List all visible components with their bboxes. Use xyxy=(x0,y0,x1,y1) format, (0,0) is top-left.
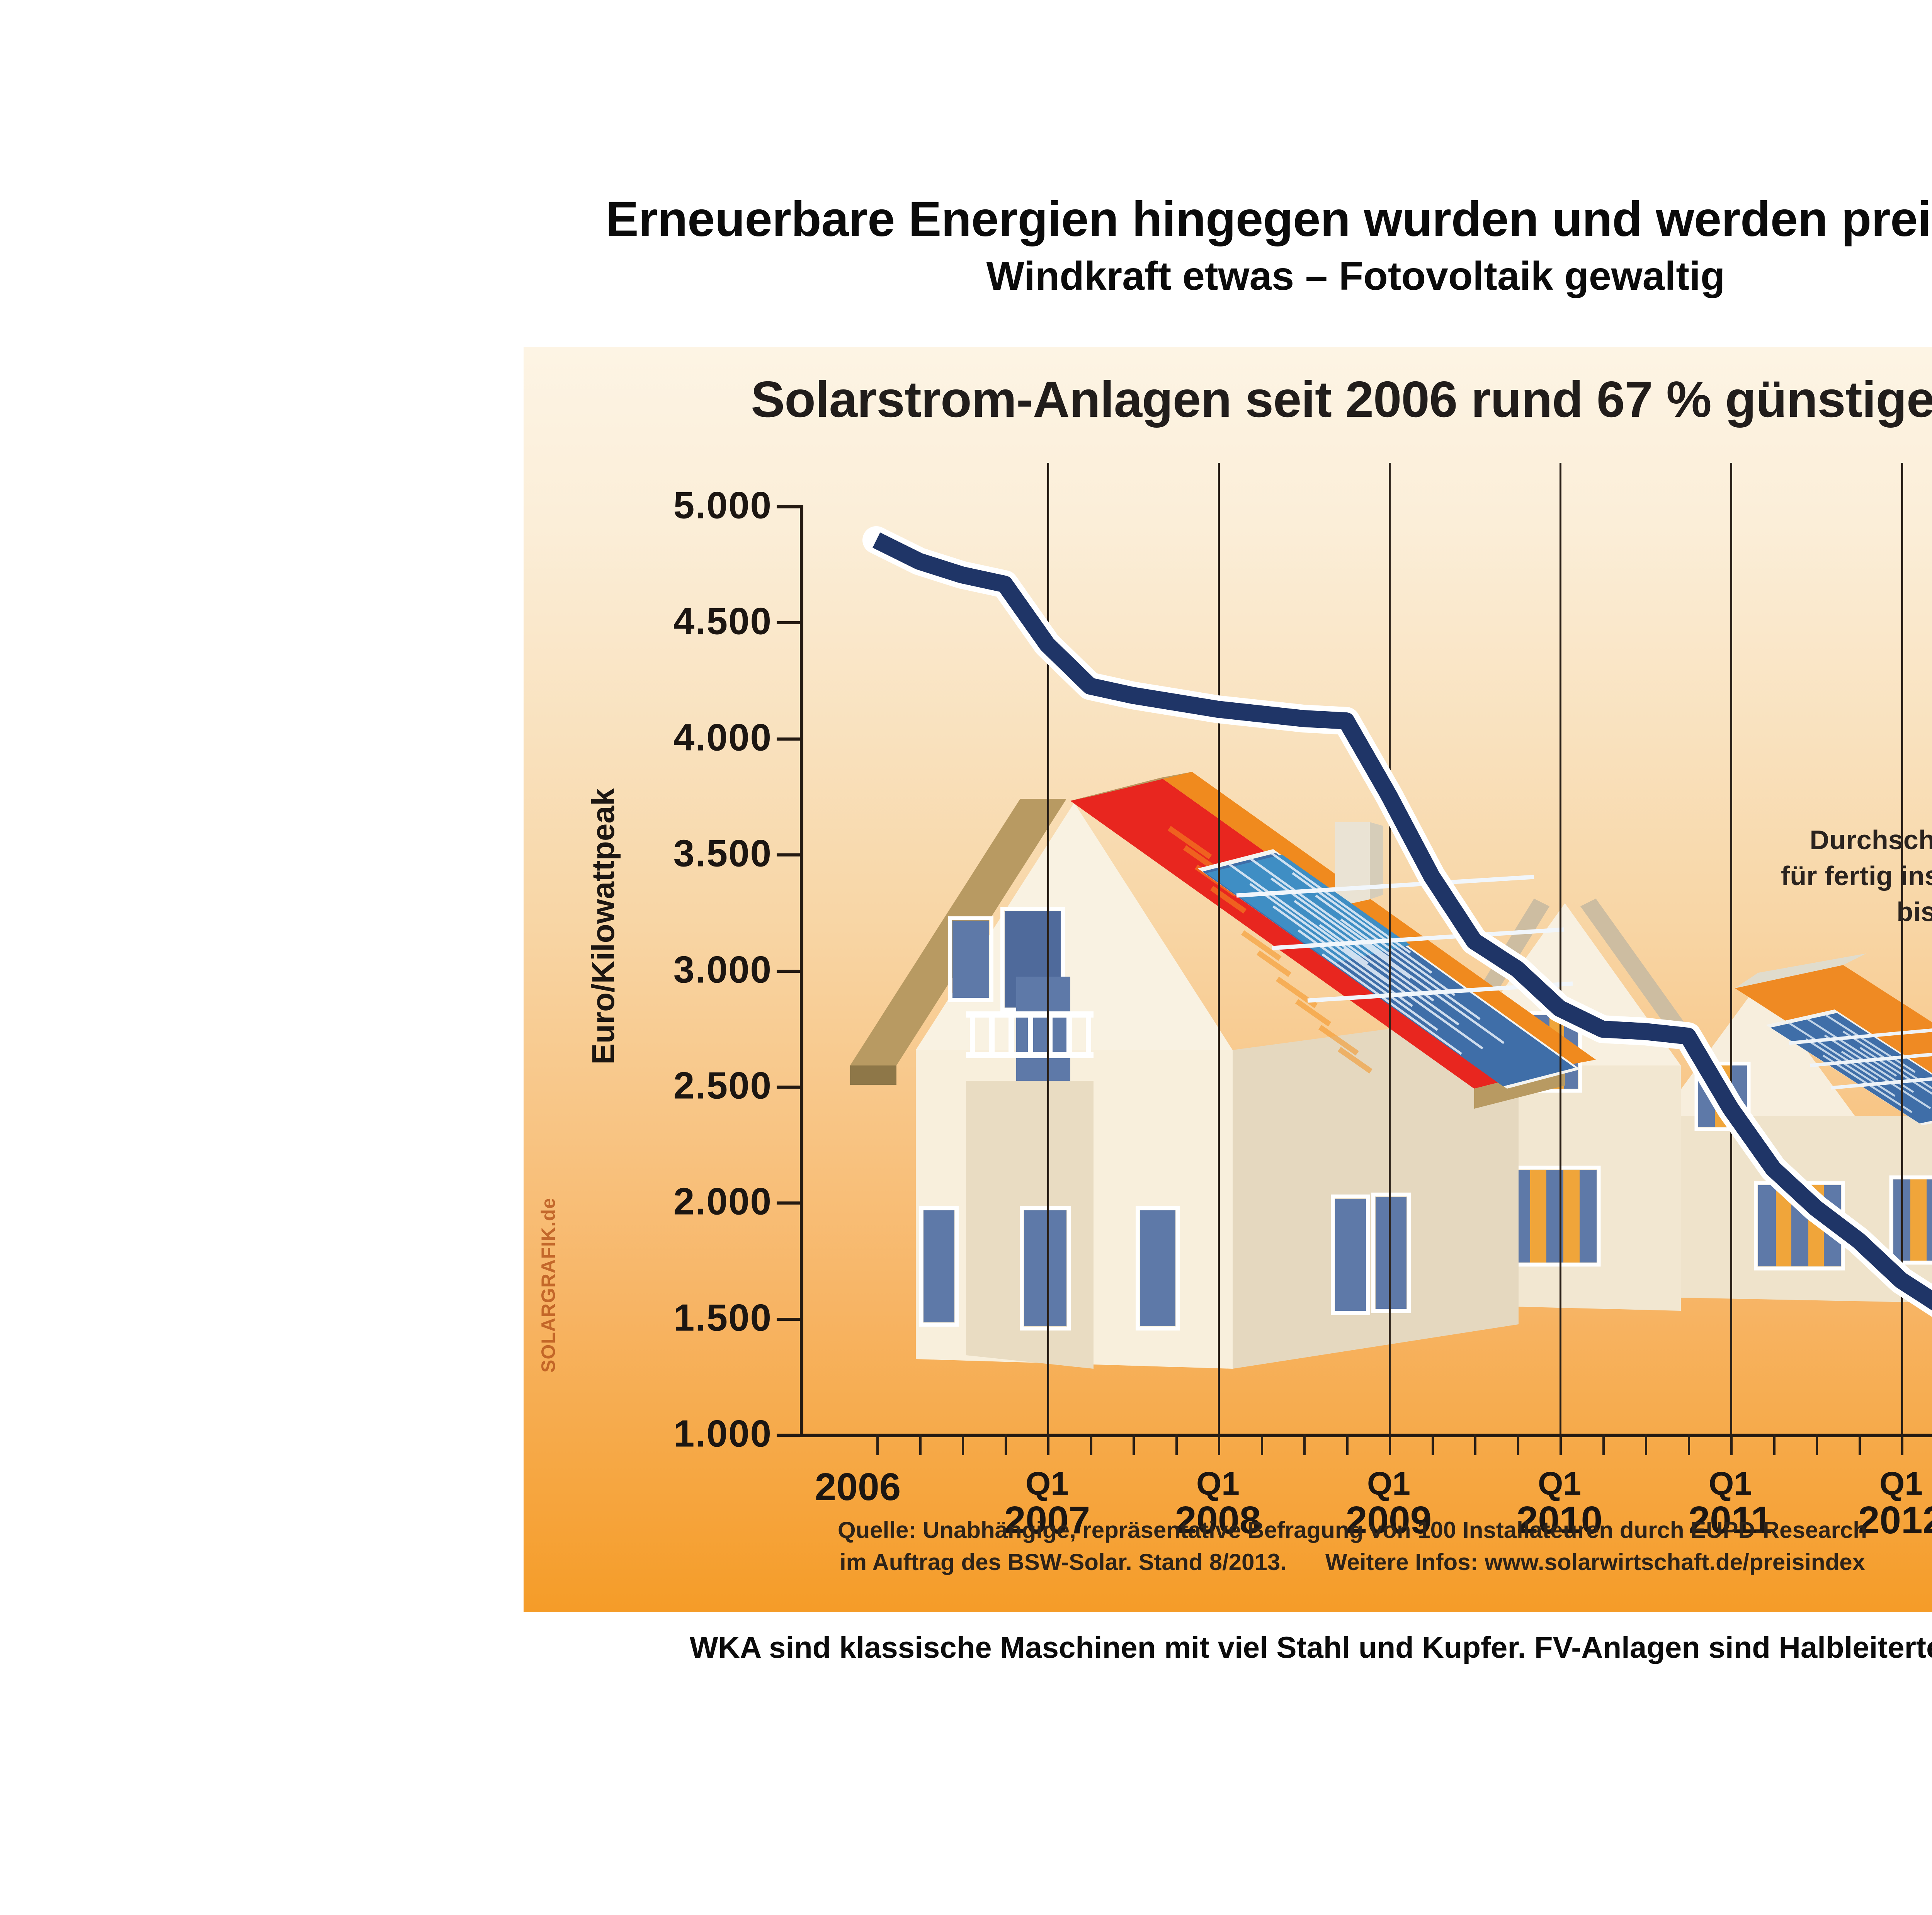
annotation-line-3: bis 10 kWp (ohne USt) xyxy=(1739,894,1932,930)
x-label-quarter: Q1 xyxy=(1517,1467,1602,1500)
y-tick-label: 3.500 xyxy=(673,832,772,875)
chart-heading: Solarstrom-Anlagen seit 2006 rund 67 % g… xyxy=(524,370,1932,428)
y-tick xyxy=(777,1318,800,1321)
source-url-path[interactable]: /preisindex xyxy=(1743,1549,1865,1575)
source-infos-label: Weitere Infos: xyxy=(1325,1549,1478,1575)
x-tick xyxy=(1005,1434,1007,1455)
y-tick xyxy=(777,1201,800,1205)
x-label-quarter: Q1 xyxy=(1858,1467,1932,1500)
y-tick-label: 2.500 xyxy=(673,1064,772,1108)
source-stand: im Auftrag des BSW-Solar. Stand 8/2013. xyxy=(840,1549,1287,1575)
y-tick xyxy=(777,970,800,973)
x-tick xyxy=(1517,1434,1519,1455)
y-tick xyxy=(777,1086,800,1089)
x-label-quarter: Q1 xyxy=(1689,1467,1772,1500)
plot-area: Euro/Kilowattpeak 5.000 4.500 4.000 3.50… xyxy=(800,463,1932,1433)
y-tick-label: 5.000 xyxy=(673,484,772,527)
x-tick xyxy=(1560,1434,1562,1455)
x-label-quarter: Q1 xyxy=(1346,1467,1432,1500)
chart-source-note: Quelle: Unabhängige, repräsentative Befr… xyxy=(524,1514,1932,1579)
x-tick xyxy=(919,1434,922,1455)
y-tick-label: 4.500 xyxy=(673,600,772,643)
x-tick xyxy=(1175,1434,1178,1455)
x-tick xyxy=(1432,1434,1434,1455)
slide-caption: WKA sind klassische Maschinen mit viel S… xyxy=(0,1631,1932,1664)
x-label-quarter: Q1 xyxy=(1175,1467,1261,1500)
source-line-2: im Auftrag des BSW-Solar. Stand 8/2013. … xyxy=(524,1546,1932,1579)
x-tick xyxy=(1303,1434,1306,1455)
y-tick-label: 3.000 xyxy=(673,948,772,992)
source-line-1: Quelle: Unabhängige, repräsentative Befr… xyxy=(524,1514,1932,1546)
x-tick xyxy=(1730,1434,1733,1455)
y-tick-label: 2.000 xyxy=(673,1180,772,1223)
x-label-quarter: Q1 xyxy=(1004,1467,1090,1500)
x-tick xyxy=(962,1434,964,1455)
y-tick xyxy=(777,505,800,508)
watermark-solargrafik: SOLARGRAFIK.de xyxy=(537,1198,560,1373)
source-url-domain[interactable]: www.solarwirtschaft.de xyxy=(1485,1549,1743,1575)
annotation-line-2: für fertig installierte PV-Aufdachanlage… xyxy=(1739,858,1932,894)
chart-panel: Solarstrom-Anlagen seit 2006 rund 67 % g… xyxy=(524,347,1932,1612)
annotation-line-1: Durchschnittlicher Endkundenpreis xyxy=(1739,822,1932,858)
x-tick xyxy=(1133,1434,1135,1455)
x-tick xyxy=(1859,1434,1861,1455)
y-tick-label: 1.000 xyxy=(673,1412,772,1456)
x-tick xyxy=(1090,1434,1092,1455)
x-tick xyxy=(1346,1434,1349,1455)
y-tick xyxy=(777,1434,800,1437)
x-tick xyxy=(1816,1434,1818,1455)
y-tick-label: 1.500 xyxy=(673,1296,772,1340)
x-tick xyxy=(1047,1434,1049,1455)
x-label-year: 2006 xyxy=(815,1467,901,1507)
x-tick xyxy=(1602,1434,1605,1455)
x-tick xyxy=(1389,1434,1391,1455)
x-label-2006: 2006 xyxy=(815,1467,901,1507)
x-tick xyxy=(1773,1434,1776,1455)
x-tick xyxy=(1645,1434,1647,1455)
x-tick xyxy=(1688,1434,1690,1455)
y-tick xyxy=(777,621,800,624)
y-axis-title: Euro/Kilowattpeak xyxy=(585,788,622,1064)
y-tick xyxy=(777,737,800,741)
x-tick xyxy=(1901,1434,1903,1455)
slide-subtitle: Windkraft etwas – Fotovoltaik gewaltig xyxy=(0,255,1932,297)
x-tick xyxy=(1474,1434,1476,1455)
price-line-series xyxy=(800,463,1932,1452)
chart-annotation: Durchschnittlicher Endkundenpreis für fe… xyxy=(1739,822,1932,930)
y-tick-label: 4.000 xyxy=(673,716,772,760)
x-tick xyxy=(1261,1434,1263,1455)
x-tick xyxy=(1218,1434,1220,1455)
y-tick xyxy=(777,853,800,856)
x-axis-line xyxy=(800,1434,1932,1437)
x-tick xyxy=(876,1434,879,1455)
slide-title: Erneuerbare Energien hingegen wurden und… xyxy=(0,193,1932,246)
